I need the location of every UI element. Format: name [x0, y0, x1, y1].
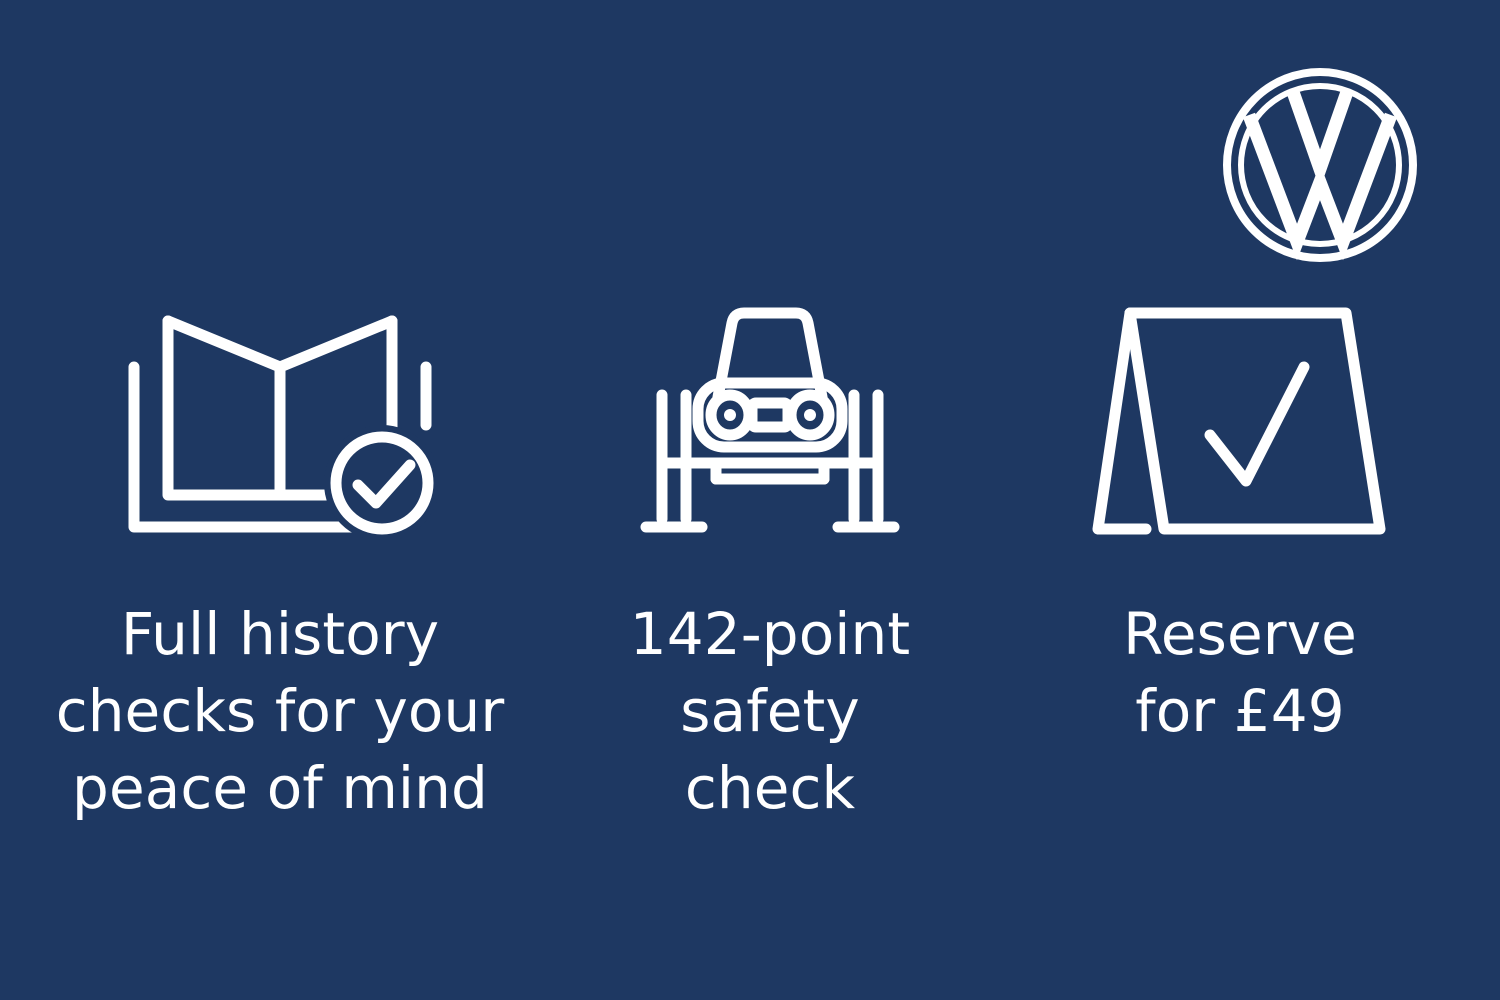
feature-label: Full history checks for your peace of mi… [20, 596, 540, 827]
car-on-lift-icon [632, 300, 908, 550]
feature-list: Full history checks for your peace of mi… [0, 300, 1500, 920]
feature-item-safety-check: 142-point safety check [560, 300, 980, 827]
a-frame-sign-check-icon [1090, 300, 1390, 550]
volkswagen-logo-icon [1220, 65, 1420, 265]
feature-label: 142-point safety check [570, 596, 970, 827]
promo-banner: Full history checks for your peace of mi… [0, 0, 1500, 1000]
feature-item-reserve: Reserve for £49 [980, 300, 1500, 750]
open-book-check-icon [120, 300, 440, 550]
feature-item-full-history-checks: Full history checks for your peace of mi… [0, 300, 560, 827]
feature-label: Reserve for £49 [1025, 596, 1455, 750]
